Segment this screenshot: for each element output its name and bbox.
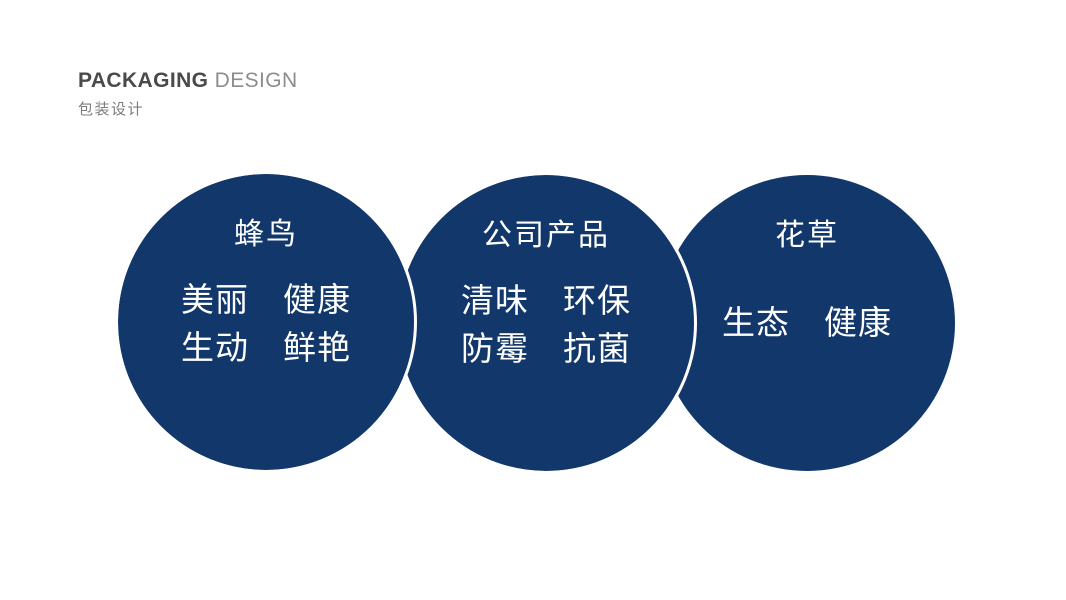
circle-body-line: 生动 鲜艳 [181, 324, 351, 372]
circle-body-line: 生态 健康 [722, 299, 892, 347]
circle-body-line: 清味 环保 [461, 277, 631, 325]
circle-title-company-products: 公司产品 [482, 217, 610, 255]
slide-canvas: PACKAGING DESIGN 包装设计 蜂鸟 美丽 健康 生动 鲜艳 公司产… [0, 0, 1066, 600]
circle-hummingbird[interactable]: 蜂鸟 美丽 健康 生动 鲜艳 [118, 174, 414, 470]
circle-body-line: 美丽 健康 [181, 276, 351, 324]
circle-title-hummingbird: 蜂鸟 [234, 216, 298, 254]
circle-body-line: 防霉 抗菌 [461, 325, 631, 373]
circle-company-products[interactable]: 公司产品 清味 环保 防霉 抗菌 [398, 175, 694, 471]
circle-title-flowers-plants: 花草 [775, 217, 839, 255]
circle-body-hummingbird: 美丽 健康 生动 鲜艳 [181, 276, 351, 372]
circle-flowers-plants[interactable]: 花草 生态 健康 [659, 175, 955, 471]
circle-body-flowers-plants: 生态 健康 [722, 299, 892, 347]
circle-group: 蜂鸟 美丽 健康 生动 鲜艳 公司产品 清味 环保 防霉 抗菌 花草 生态 健康 [0, 0, 1066, 600]
circle-body-company-products: 清味 环保 防霉 抗菌 [461, 277, 631, 373]
